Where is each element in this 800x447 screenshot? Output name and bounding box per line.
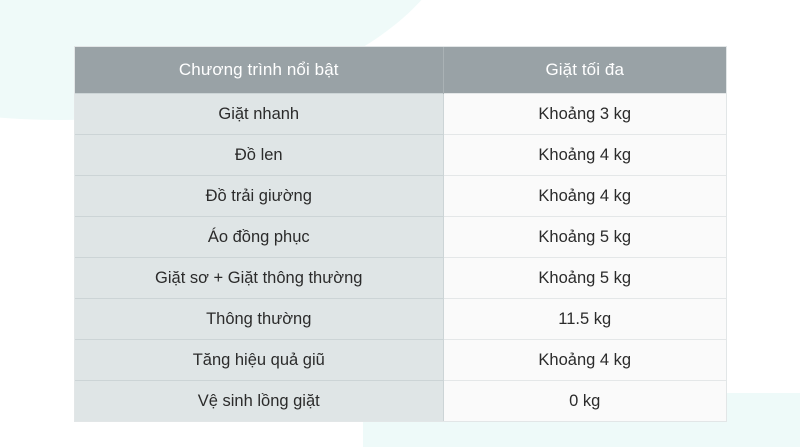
cell-capacity: Khoảng 4 kg xyxy=(443,176,726,217)
table-row: Giặt sơ + Giặt thông thườngKhoảng 5 kg xyxy=(75,258,726,299)
table-row: Thông thường11.5 kg xyxy=(75,299,726,340)
column-header-capacity: Giặt tối đa xyxy=(443,47,726,94)
table-row: Đồ lenKhoảng 4 kg xyxy=(75,135,726,176)
table-row: Vệ sinh lồng giặt0 kg xyxy=(75,381,726,422)
table-row: Tăng hiệu quả giũKhoảng 4 kg xyxy=(75,340,726,381)
cell-capacity: 0 kg xyxy=(443,381,726,422)
cell-program: Áo đồng phục xyxy=(75,217,443,258)
cell-program: Đồ trải giường xyxy=(75,176,443,217)
cell-program: Giặt nhanh xyxy=(75,94,443,135)
cell-program: Thông thường xyxy=(75,299,443,340)
washer-program-capacity-table: Chương trình nổi bật Giặt tối đa Giặt nh… xyxy=(75,47,726,421)
table-header-row: Chương trình nổi bật Giặt tối đa xyxy=(75,47,726,94)
cell-capacity: Khoảng 5 kg xyxy=(443,258,726,299)
cell-program: Đồ len xyxy=(75,135,443,176)
table-body: Giặt nhanhKhoảng 3 kgĐồ lenKhoảng 4 kgĐồ… xyxy=(75,94,726,422)
table-header: Chương trình nổi bật Giặt tối đa xyxy=(75,47,726,94)
table-row: Đồ trải giườngKhoảng 4 kg xyxy=(75,176,726,217)
cell-program: Giặt sơ + Giặt thông thường xyxy=(75,258,443,299)
column-header-program: Chương trình nổi bật xyxy=(75,47,443,94)
cell-capacity: 11.5 kg xyxy=(443,299,726,340)
table-row: Áo đồng phụcKhoảng 5 kg xyxy=(75,217,726,258)
cell-capacity: Khoảng 4 kg xyxy=(443,135,726,176)
table-row: Giặt nhanhKhoảng 3 kg xyxy=(75,94,726,135)
cell-capacity: Khoảng 4 kg xyxy=(443,340,726,381)
spec-table: Chương trình nổi bật Giặt tối đa Giặt nh… xyxy=(75,47,726,421)
cell-capacity: Khoảng 3 kg xyxy=(443,94,726,135)
cell-program: Vệ sinh lồng giặt xyxy=(75,381,443,422)
cell-capacity: Khoảng 5 kg xyxy=(443,217,726,258)
cell-program: Tăng hiệu quả giũ xyxy=(75,340,443,381)
